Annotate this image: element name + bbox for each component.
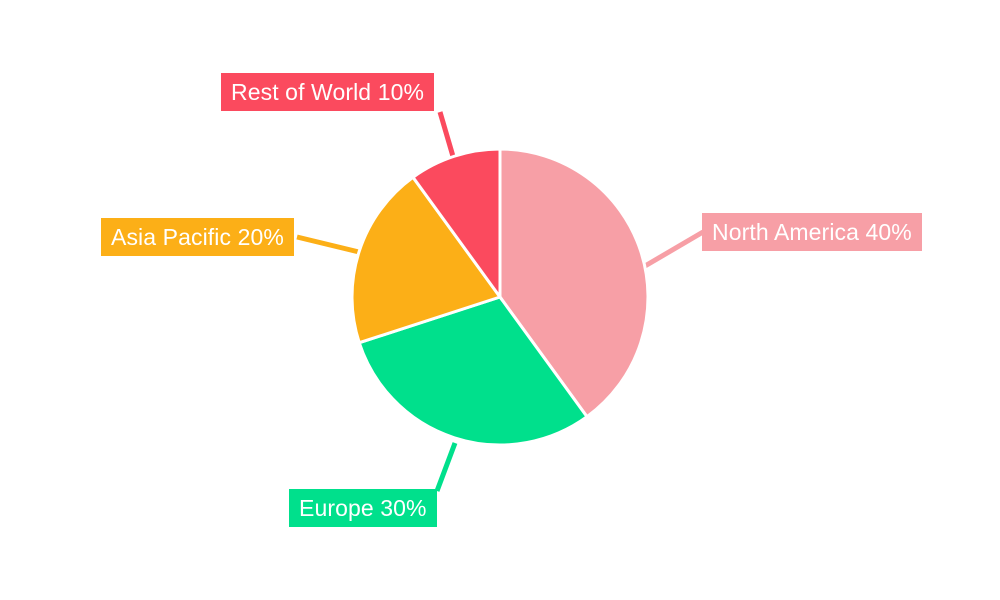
pie-label-europe: Europe 30%: [289, 489, 437, 527]
leader-line-asia-pacific: [297, 237, 359, 252]
pie-label-rest-of-world: Rest of World 10%: [221, 73, 434, 111]
leader-line-europe: [437, 443, 455, 491]
pie-label-north-america: North America 40%: [702, 213, 922, 251]
pie-label-north-america-text: North America 40%: [712, 221, 912, 244]
pie-label-europe-text: Europe 30%: [299, 497, 427, 520]
pie-chart-figure: North America 40% Europe 30% Asia Pacifi…: [0, 0, 1000, 600]
leader-line-north-america: [645, 232, 703, 266]
pie-label-asia-pacific: Asia Pacific 20%: [101, 218, 294, 256]
pie-slices: [352, 149, 648, 445]
pie-label-rest-of-world-text: Rest of World 10%: [231, 81, 424, 104]
pie-chart-canvas: [0, 0, 1000, 600]
pie-label-asia-pacific-text: Asia Pacific 20%: [111, 226, 284, 249]
